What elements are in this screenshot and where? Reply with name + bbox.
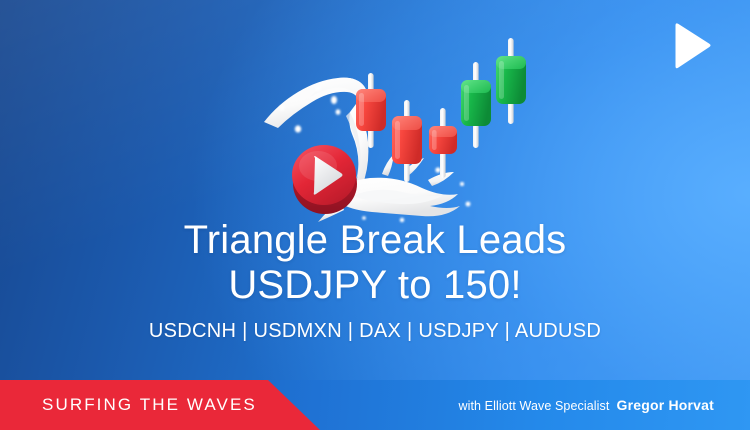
show-name: SURFING THE WAVES [42, 395, 257, 415]
byline: with Elliott Wave SpecialistGregor Horva… [458, 397, 714, 413]
instruments-line: USDCNH | USDMXN | DAX | USDJPY | AUDUSD [30, 320, 720, 343]
byline-prefix: with Elliott Wave Specialist [458, 399, 609, 413]
host-name: Gregor Horvat [616, 397, 714, 413]
video-thumbnail: Triangle Break Leads USDJPY to 150! USDC… [0, 0, 750, 430]
headline-block: Triangle Break Leads USDJPY to 150! USDC… [0, 218, 750, 343]
candlestick-bearish-3 [429, 108, 457, 178]
play-triangle-icon[interactable] [661, 18, 717, 74]
title-line-1: Triangle Break Leads [30, 218, 720, 263]
play-button-disc [292, 145, 357, 214]
hero-illustration [252, 44, 504, 224]
footer-bar: SURFING THE WAVES with Elliott Wave Spec… [0, 380, 750, 430]
candlestick-bullish-4 [461, 62, 491, 148]
candlestick-bearish-2 [392, 100, 422, 182]
title-line-2: USDJPY to 150! [30, 263, 720, 308]
